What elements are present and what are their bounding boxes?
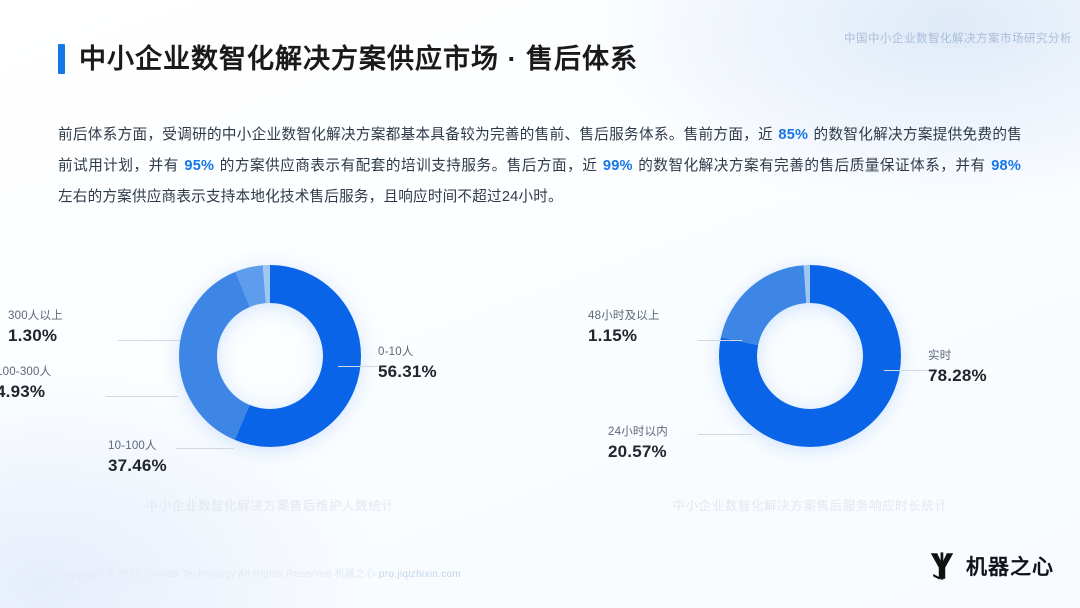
label-100-300-value: 4.93% bbox=[0, 382, 51, 402]
title-accent-bar bbox=[58, 44, 65, 74]
donut-chart-maintenance-headcount bbox=[170, 256, 370, 456]
footer-copyright: Copyright © 2023 Synced Technology All R… bbox=[58, 565, 461, 580]
paragraph-part-3: 的方案供应商表示有配套的培训支持服务。售后方面，近 bbox=[215, 158, 602, 174]
label-realtime: 实时 78.28% bbox=[928, 350, 987, 386]
label-300-plus-key: 300人以上 bbox=[8, 310, 63, 324]
label-300-plus-value: 1.30% bbox=[8, 326, 63, 346]
body-paragraph: 前后体系方面，受调研的中小企业数智化解决方案都基本具备较为完善的售前、售后服务体… bbox=[58, 120, 1022, 213]
footer-site-link[interactable]: pro.jiqizhixin.com bbox=[379, 569, 461, 580]
label-10-100-key: 10-100人 bbox=[108, 440, 167, 454]
running-header: 中国中小企业数智化解决方案市场研究分析 bbox=[844, 30, 1072, 46]
highlight-95: 95% bbox=[183, 158, 215, 174]
donut-svg-right bbox=[710, 256, 910, 456]
label-100-300-key: 100-300人 bbox=[0, 366, 51, 380]
label-0-10: 0-10人 56.31% bbox=[378, 346, 437, 382]
label-within-24h-key: 24小时以内 bbox=[608, 426, 668, 440]
donut-svg-left bbox=[170, 256, 370, 456]
label-300-plus: 300人以上 1.30% bbox=[8, 310, 63, 346]
label-realtime-value: 78.28% bbox=[928, 366, 987, 386]
chart-block-maintenance-headcount: 300人以上 1.30% 100-300人 4.93% 10-100人 37.4… bbox=[0, 248, 540, 538]
leader-line-48h-plus bbox=[698, 340, 742, 341]
label-10-100-value: 37.46% bbox=[108, 456, 167, 476]
label-10-100: 10-100人 37.46% bbox=[108, 440, 167, 476]
brand-name: 机器之心 bbox=[966, 551, 1054, 581]
highlight-85: 85% bbox=[777, 127, 809, 143]
label-realtime-key: 实时 bbox=[928, 350, 987, 364]
leader-line-10-100 bbox=[176, 448, 234, 449]
label-48h-plus-key: 48小时及以上 bbox=[588, 310, 660, 324]
label-0-10-key: 0-10人 bbox=[378, 346, 437, 360]
brand-logo: 机器之心 bbox=[926, 550, 1054, 582]
leader-line-within-24h bbox=[698, 434, 752, 435]
footer-copyright-text: Copyright © 2023 Synced Technology All R… bbox=[58, 569, 376, 580]
label-48h-plus-value: 1.15% bbox=[588, 326, 660, 346]
leader-line-0-10 bbox=[338, 366, 378, 367]
page-title-text: 中小企业数智化解决方案供应市场 · 售后体系 bbox=[79, 46, 638, 73]
page-title: 中小企业数智化解决方案供应市场 · 售后体系 bbox=[58, 44, 638, 74]
paragraph-part-4: 的数智化解决方案有完善的售后质量保证体系，并有 bbox=[634, 158, 990, 174]
highlight-99: 99% bbox=[602, 158, 634, 174]
label-100-300: 100-300人 4.93% bbox=[0, 366, 51, 402]
chart-block-response-time: 48小时及以上 1.15% 24小时以内 20.57% 实时 78.28% 中小… bbox=[540, 248, 1080, 538]
highlight-98: 98% bbox=[990, 158, 1022, 174]
chart-caption-left: 中小企业数智化解决方案售后维护人数统计 bbox=[0, 495, 540, 514]
synced-logo-icon bbox=[926, 550, 958, 582]
donut-chart-response-time bbox=[710, 256, 910, 456]
label-within-24h-value: 20.57% bbox=[608, 442, 668, 462]
charts-area: 300人以上 1.30% 100-300人 4.93% 10-100人 37.4… bbox=[0, 248, 1080, 538]
label-within-24h: 24小时以内 20.57% bbox=[608, 426, 668, 462]
label-0-10-value: 56.31% bbox=[378, 362, 437, 382]
label-48h-plus: 48小时及以上 1.15% bbox=[588, 310, 660, 346]
leader-line-300-plus bbox=[118, 340, 180, 341]
paragraph-part-1: 前后体系方面，受调研的中小企业数智化解决方案都基本具备较为完善的售前、售后服务体… bbox=[58, 127, 777, 143]
leader-line-100-300 bbox=[106, 396, 178, 397]
leader-line-realtime bbox=[884, 370, 928, 371]
chart-caption-right: 中小企业数智化解决方案售后服务响应时长统计 bbox=[540, 495, 1080, 514]
paragraph-part-5: 左右的方案供应商表示支持本地化技术售后服务，且响应时间不超过24小时。 bbox=[58, 189, 563, 205]
